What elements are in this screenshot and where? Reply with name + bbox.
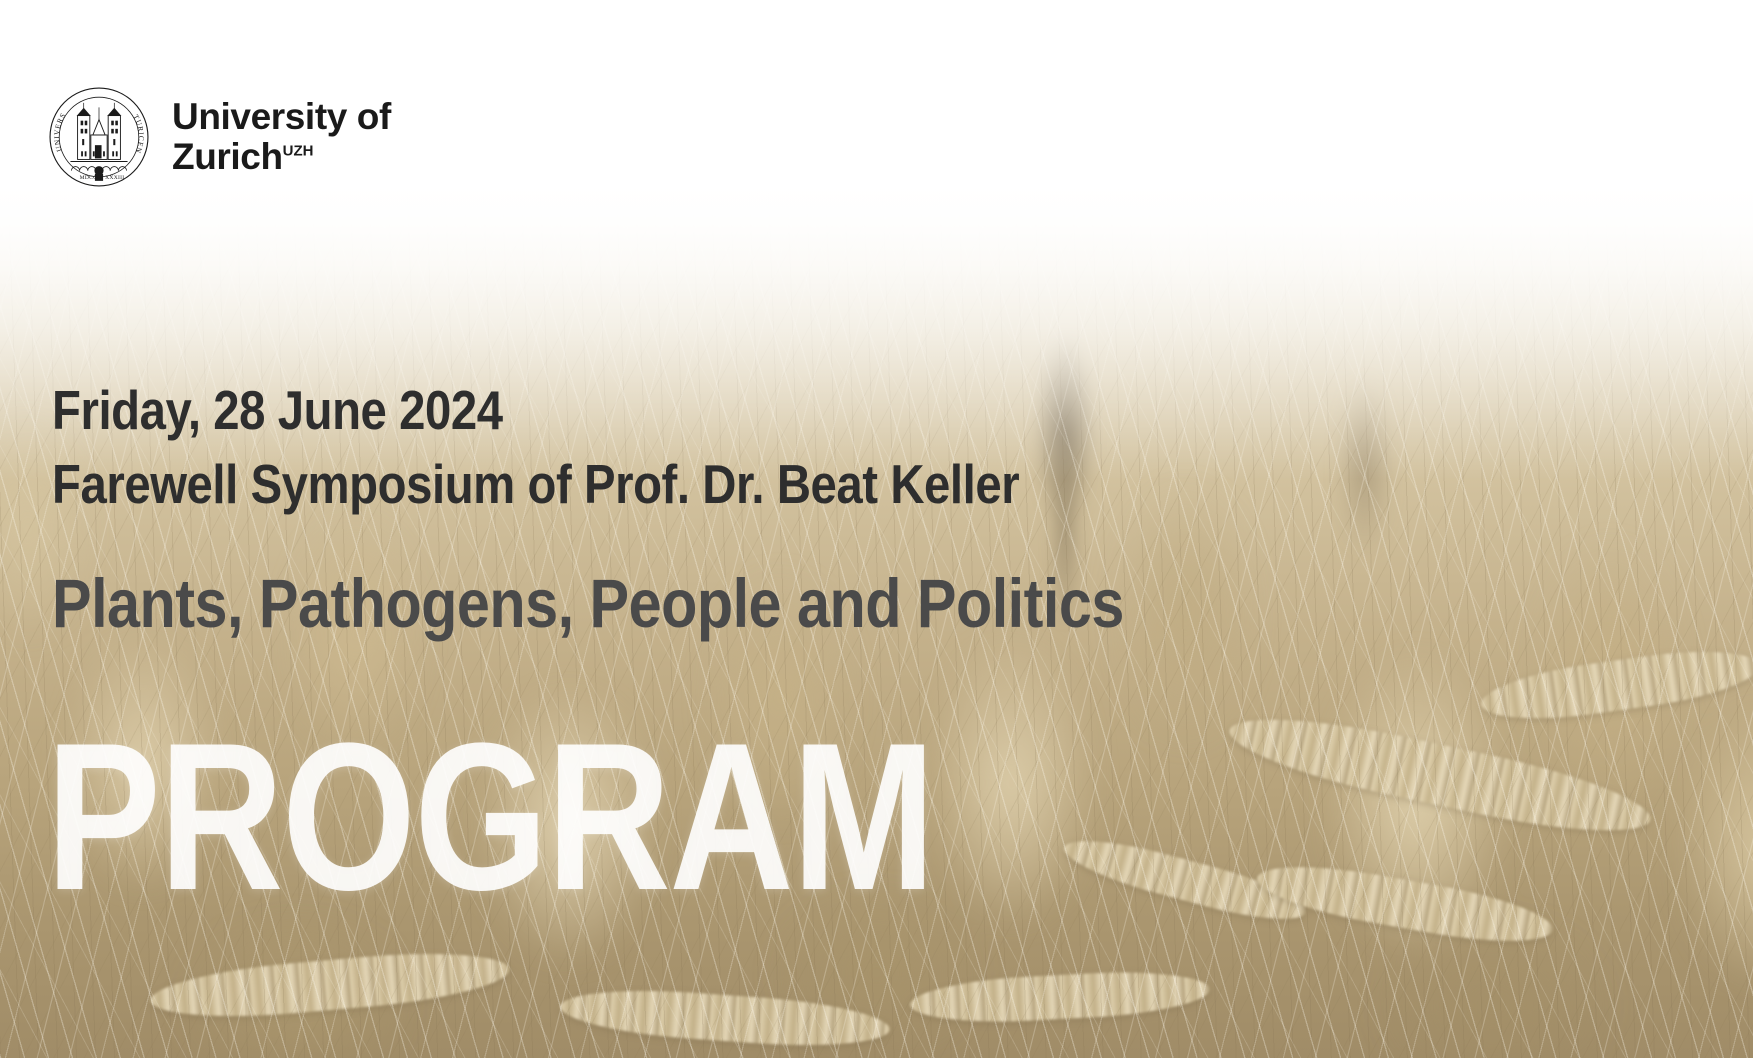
svg-text:UNIVERSITAS: UNIVERSITAS <box>48 86 68 153</box>
svg-text:MDCCC: MDCCC <box>80 175 101 181</box>
headline-block: Friday, 28 June 2024 Farewell Symposium … <box>52 374 1652 643</box>
uzh-seal-icon: UNIVERSITAS TURICENSIS <box>48 86 150 188</box>
uzh-wordmark: University of ZurichUZH <box>172 97 391 177</box>
event-date: Friday, 28 June 2024 <box>52 374 1428 448</box>
event-subtitle: Farewell Symposium of Prof. Dr. Beat Kel… <box>52 448 1428 522</box>
wordmark-zurich: Zurich <box>172 136 283 177</box>
wordmark-line-1: University of <box>172 97 391 137</box>
program-banner-word: PROGRAM <box>46 712 934 922</box>
wordmark-line-2: ZurichUZH <box>172 137 391 177</box>
poster-page: UNIVERSITAS TURICENSIS <box>0 0 1753 1058</box>
event-title: Plants, Pathogens, People and Politics <box>52 565 1428 642</box>
uzh-logo: UNIVERSITAS TURICENSIS <box>48 86 391 188</box>
wordmark-uzh-superscript: UZH <box>283 143 314 160</box>
svg-text:XXXIII: XXXIII <box>105 175 124 181</box>
